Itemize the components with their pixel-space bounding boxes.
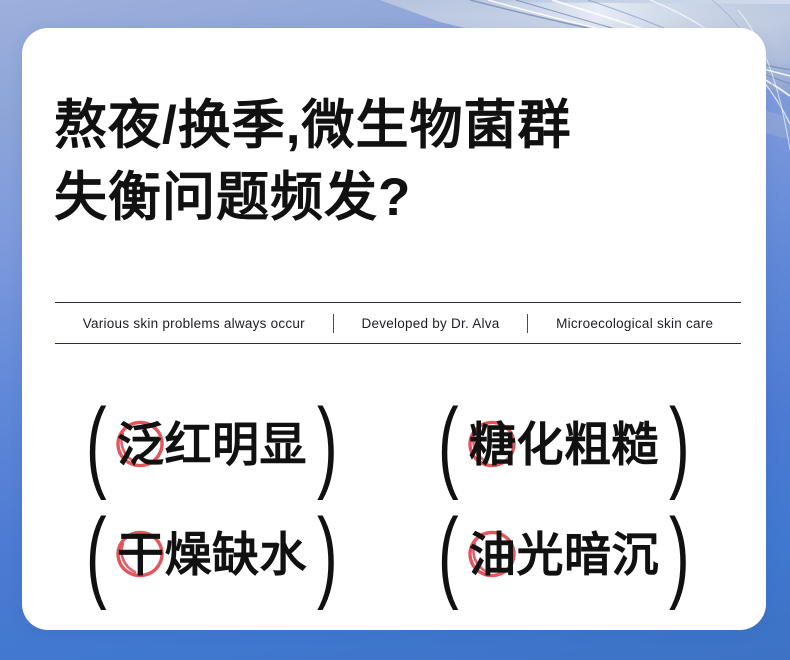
bracket-right: ) [669, 394, 690, 495]
tag-label: 糖化粗糙 [469, 418, 659, 471]
promo-banner: 熬夜/换季,微生物菌群 失衡问题频发? Various skin problem… [0, 0, 790, 660]
bracket-left: ( [86, 504, 107, 605]
tag-label: 干燥缺水 [117, 528, 307, 581]
subtitle-item-2: Developed by Dr. Alva [334, 316, 528, 331]
problem-tag: ( 泛红明显 ) [42, 390, 382, 500]
tag-label: 泛红明显 [117, 418, 307, 471]
bracket-left: ( [438, 394, 459, 495]
content-card: 熬夜/换季,微生物菌群 失衡问题频发? Various skin problem… [22, 28, 766, 630]
tag-text-wrap: 泛红明显 [113, 416, 311, 474]
bracket-right: ) [317, 504, 338, 605]
tag-text-wrap: 干燥缺水 [113, 526, 311, 584]
subtitle-bar: Various skin problems always occur Devel… [55, 302, 741, 344]
title-line-1: 熬夜/换季,微生物菌群 [54, 90, 714, 162]
problem-tag: ( 干燥缺水 ) [42, 500, 382, 610]
bracket-left: ( [438, 504, 459, 605]
bracket-right: ) [317, 394, 338, 495]
tag-label: 油光暗沉 [469, 528, 659, 581]
problem-tag: ( 油光暗沉 ) [394, 500, 734, 610]
page-title: 熬夜/换季,微生物菌群 失衡问题频发? [54, 90, 714, 234]
bracket-right: ) [669, 504, 690, 605]
problem-tag: ( 糖化粗糙 ) [394, 390, 734, 500]
tag-text-wrap: 油光暗沉 [465, 526, 663, 584]
subtitle-item-1: Various skin problems always occur [55, 316, 333, 331]
problem-tag-grid: ( 泛红明显 ) ( 糖化粗糙 [42, 390, 742, 610]
bracket-left: ( [86, 394, 107, 495]
tag-text-wrap: 糖化粗糙 [465, 416, 663, 474]
title-line-2: 失衡问题频发? [54, 162, 714, 234]
subtitle-item-3: Microecological skin care [528, 316, 741, 331]
